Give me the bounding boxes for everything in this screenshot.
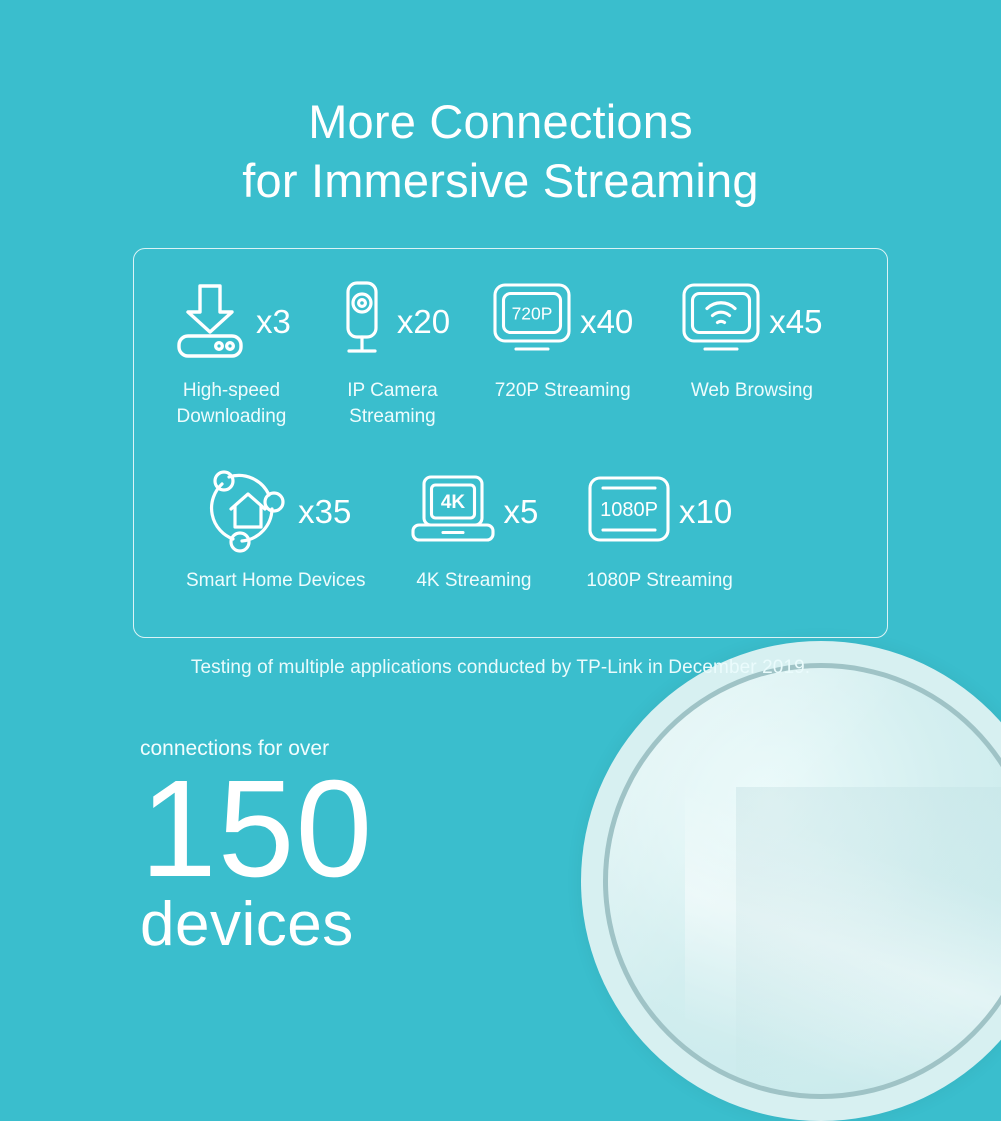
page-title-line-2: for Immersive Streaming — [0, 151, 1001, 210]
device-highlight-b — [685, 694, 1001, 1094]
icon-and-count: x3 — [172, 275, 291, 367]
capability-item-web-browsing: x45 Web Browsing — [681, 275, 822, 404]
device-top-surface — [608, 668, 1001, 1094]
svg-text:4K: 4K — [440, 492, 465, 513]
screen-1080p-icon: 1080P — [587, 475, 671, 548]
smart-home-network-icon — [200, 465, 290, 558]
page-title: More Connections for Immersive Streaming — [0, 92, 1001, 210]
capability-item-high-speed-downloading: x3 High-speed Downloading — [172, 275, 291, 430]
capability-count: x5 — [504, 495, 539, 528]
download-router-icon — [172, 280, 248, 363]
capability-count: x3 — [256, 305, 291, 338]
ip-camera-icon — [335, 279, 389, 364]
laptop-4k-icon: 4K — [410, 474, 496, 549]
capability-label: IP Camera Streaming — [347, 378, 437, 430]
capability-label: High-speed Downloading — [177, 378, 287, 430]
icon-and-count: x45 — [681, 275, 822, 367]
capability-row-2: x35 Smart Home Devices 4K x5 4K Streami — [134, 465, 887, 594]
capability-label: 1080P Streaming — [586, 568, 732, 594]
monitor-wifi-icon — [681, 282, 761, 361]
page-title-line-1: More Connections — [0, 92, 1001, 151]
capability-count: x45 — [769, 305, 822, 338]
capabilities-card: x3 High-speed Downloading x20 IP Camer — [133, 248, 888, 638]
capability-count: x10 — [679, 495, 732, 528]
footnote-text: Testing of multiple applications conduct… — [0, 657, 1001, 679]
icon-and-count: 1080P x10 — [587, 465, 732, 557]
svg-text:720P: 720P — [512, 303, 553, 323]
capability-item-720p-streaming: 720P x40 720P Streaming — [492, 275, 633, 404]
capability-count: x35 — [298, 495, 351, 528]
device-highlight-c — [736, 787, 1001, 1094]
stat-unit: devices — [140, 892, 373, 958]
connections-stat: connections for over 150 devices — [140, 735, 373, 958]
device-highlight-a — [608, 668, 1001, 1094]
capability-item-ip-camera-streaming: x20 IP Camera Streaming — [335, 275, 450, 430]
icon-and-count: x35 — [200, 465, 351, 557]
svg-text:1080P: 1080P — [600, 499, 658, 521]
device-inner-ring — [603, 663, 1001, 1099]
capability-label: 720P Streaming — [495, 378, 631, 404]
icon-and-count: x20 — [335, 275, 450, 367]
icon-and-count: 4K x5 — [410, 465, 539, 557]
device-outer-shell — [581, 641, 1001, 1121]
capability-item-1080p-streaming: 1080P x10 1080P Streaming — [586, 465, 732, 594]
icon-and-count: 720P x40 — [492, 275, 633, 367]
capability-count: x40 — [580, 305, 633, 338]
router-device-image — [581, 641, 1001, 1121]
capability-label: 4K Streaming — [416, 568, 531, 594]
monitor-720p-icon: 720P — [492, 282, 572, 361]
capability-item-smart-home-devices: x35 Smart Home Devices — [186, 465, 366, 594]
capability-row-1: x3 High-speed Downloading x20 IP Camer — [134, 275, 887, 430]
capability-label: Smart Home Devices — [186, 568, 366, 594]
capability-item-4k-streaming: 4K x5 4K Streaming — [410, 465, 539, 594]
stat-number: 150 — [140, 767, 373, 892]
capability-label: Web Browsing — [691, 378, 813, 404]
capability-count: x20 — [397, 305, 450, 338]
